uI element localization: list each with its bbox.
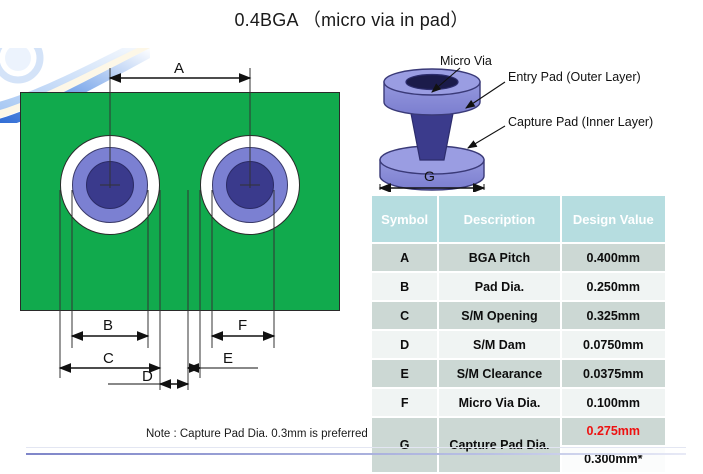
dimension-label-e: E bbox=[223, 350, 233, 367]
cell-description: Pad Dia. bbox=[438, 272, 560, 301]
cell-value: 0.0750mm bbox=[561, 330, 665, 359]
slide-root: 0.4BGA （micro via in pad） bbox=[0, 0, 703, 465]
callout-entry-pad: Entry Pad (Outer Layer) bbox=[508, 70, 641, 84]
table-row: A BGA Pitch 0.400mm bbox=[372, 243, 665, 272]
dimension-label-f: F bbox=[238, 317, 247, 334]
page-title: 0.4BGA （micro via in pad） bbox=[0, 6, 703, 32]
cell-symbol: B bbox=[372, 272, 438, 301]
table-row: F Micro Via Dia. 0.100mm bbox=[372, 388, 665, 417]
cell-value: 0.100mm bbox=[561, 388, 665, 417]
footer-divider bbox=[26, 453, 686, 455]
cell-description: Micro Via Dia. bbox=[438, 388, 560, 417]
cell-value: 0.325mm bbox=[561, 301, 665, 330]
capture-pad-core-2 bbox=[226, 161, 274, 209]
cell-description: S/M Dam bbox=[438, 330, 560, 359]
header-description: Description bbox=[438, 196, 560, 243]
dimension-label-a: A bbox=[174, 60, 184, 77]
cell-value-secondary: 0.300mm* bbox=[562, 447, 665, 472]
table-row: C S/M Opening 0.325mm bbox=[372, 301, 665, 330]
cell-symbol: D bbox=[372, 330, 438, 359]
footer-divider-thin bbox=[26, 447, 686, 448]
dimension-label-g: G bbox=[424, 168, 435, 184]
dimension-label-c: C bbox=[103, 350, 114, 367]
design-value-table: Symbol Description Design Value A BGA Pi… bbox=[372, 196, 665, 474]
cell-value-primary: 0.275mm bbox=[562, 418, 665, 447]
header-symbol: Symbol bbox=[372, 196, 438, 243]
table-row: E S/M Clearance 0.0375mm bbox=[372, 359, 665, 388]
table-row: B Pad Dia. 0.250mm bbox=[372, 272, 665, 301]
cell-symbol: F bbox=[372, 388, 438, 417]
callout-capture-pad: Capture Pad (Inner Layer) bbox=[508, 115, 653, 129]
capture-pad-note: Note : Capture Pad Dia. 0.3mm is preferr… bbox=[146, 428, 368, 440]
cell-description: S/M Clearance bbox=[438, 359, 560, 388]
callout-micro-via: Micro Via bbox=[440, 54, 492, 68]
cell-description: S/M Opening bbox=[438, 301, 560, 330]
cell-description: BGA Pitch bbox=[438, 243, 560, 272]
table-row: D S/M Dam 0.0750mm bbox=[372, 330, 665, 359]
cell-value: 0.0375mm bbox=[561, 359, 665, 388]
cell-value: 0.250mm bbox=[561, 272, 665, 301]
capture-pad-core-1 bbox=[86, 161, 134, 209]
cell-symbol: E bbox=[372, 359, 438, 388]
dimension-label-b: B bbox=[103, 317, 113, 334]
cell-value: 0.400mm bbox=[561, 243, 665, 272]
cell-symbol: A bbox=[372, 243, 438, 272]
dimension-label-d: D bbox=[142, 368, 153, 385]
table-header-row: Symbol Description Design Value bbox=[372, 196, 665, 243]
header-design-value: Design Value bbox=[561, 196, 665, 243]
cell-symbol: C bbox=[372, 301, 438, 330]
